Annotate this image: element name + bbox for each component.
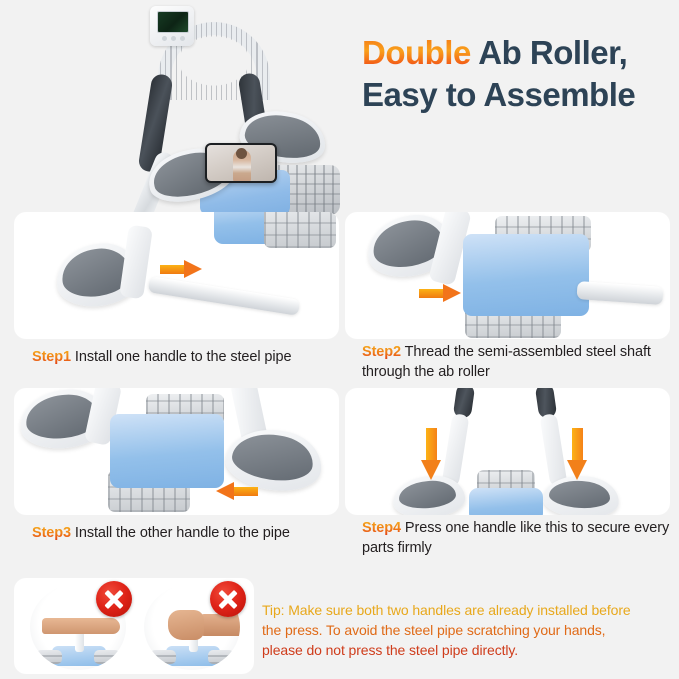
arrow-shaft: [572, 428, 583, 462]
forearm: [198, 614, 240, 636]
step4-text: Press one handle like this to secure eve…: [362, 520, 669, 556]
elbow-pad-surface: [230, 429, 316, 485]
arrow-head: [421, 460, 441, 480]
title-rest-word: Ab Roller,: [471, 34, 627, 71]
red-x-badge-icon: [96, 581, 132, 617]
arm-bar-right: [539, 413, 567, 487]
step2-caption: Step2 Thread the semi-assembled steel sh…: [362, 342, 672, 382]
roller-tread: [264, 212, 336, 248]
arrow-head: [184, 260, 202, 278]
step4-caption: Step4 Press one handle like this to secu…: [362, 518, 672, 558]
step2-panel: [345, 212, 670, 339]
tip-text: Tip: Make sure both two handles are alre…: [262, 600, 672, 660]
steel-pipe-part: [148, 276, 301, 316]
step1-text: Install one handle to the steel pipe: [71, 349, 291, 365]
step3-label: Step3: [32, 525, 71, 541]
step3-caption: Step3 Install the other handle to the pi…: [32, 523, 332, 543]
tip-line-2: the press. To avoid the steel pipe scrat…: [262, 620, 672, 640]
step3-text: Install the other handle to the pipe: [71, 525, 290, 541]
product-image-ab-roller: [120, 0, 350, 215]
roller-tread-left: [150, 650, 176, 664]
roller-housing-blue: [110, 414, 224, 488]
arrow-down-right-icon: [567, 428, 587, 480]
title-line-1: Double Ab Roller,: [362, 32, 672, 74]
tip-line-3: please do not press the steel pipe direc…: [262, 640, 672, 660]
tip-line-1: Tip: Make sure both two handles are alre…: [262, 600, 672, 620]
roller-tread-right: [94, 650, 120, 664]
arrow-head: [216, 482, 234, 500]
arrow-right-icon: [419, 284, 461, 302]
arrow-head: [443, 284, 461, 302]
elbow-pad-surface: [398, 479, 457, 510]
step1-label: Step1: [32, 349, 71, 365]
page-title: Double Ab Roller, Easy to Assemble: [362, 32, 672, 116]
elbow-pad-surface: [548, 479, 611, 510]
step2-label: Step2: [362, 344, 401, 360]
step4-panel: [345, 388, 670, 515]
step1-panel: [14, 212, 339, 339]
roller-housing-blue: [463, 234, 589, 316]
roller-housing-blue: [469, 488, 543, 515]
workout-video-figure-head: [236, 148, 247, 159]
roller-tread-right: [208, 650, 234, 664]
counter-button-mid: [171, 36, 176, 41]
counter-button-left: [162, 36, 167, 41]
infographic-page: Double Ab Roller, Easy to Assemble Step1…: [0, 0, 679, 679]
roller-tread-left: [36, 650, 62, 664]
phone-holder: [205, 143, 277, 183]
fist-hand: [168, 610, 204, 640]
arrow-down-left-icon: [421, 428, 441, 480]
hero-section: Double Ab Roller, Easy to Assemble: [0, 0, 679, 205]
title-accent-word: Double: [362, 34, 471, 71]
arrow-shaft: [232, 487, 258, 496]
phone-screen: [207, 145, 275, 181]
step2-text: Thread the semi-assembled steel shaft th…: [362, 344, 651, 380]
step3-panel: [14, 388, 339, 515]
arrow-right-icon: [160, 260, 202, 278]
rep-counter-display: [150, 6, 194, 46]
step1-caption: Step1 Install one handle to the steel pi…: [32, 347, 332, 367]
arrow-shaft: [426, 428, 437, 462]
counter-button-right: [180, 36, 185, 41]
arrow-shaft: [160, 265, 186, 274]
warning-item-fist-grip: [136, 580, 248, 672]
arrow-left-icon: [216, 482, 258, 500]
warning-panel: [14, 578, 254, 674]
arrow-shaft: [419, 289, 445, 298]
warning-item-flat-palm: [22, 580, 134, 672]
arm-bar-left: [441, 413, 469, 487]
red-x-badge-icon: [210, 581, 246, 617]
arrow-head: [567, 460, 587, 480]
title-line-2: Easy to Assemble: [362, 74, 672, 116]
step4-label: Step4: [362, 520, 401, 536]
steel-pipe-part: [576, 281, 663, 305]
flat-palm-hand: [42, 618, 120, 634]
counter-screen-icon: [157, 11, 189, 33]
